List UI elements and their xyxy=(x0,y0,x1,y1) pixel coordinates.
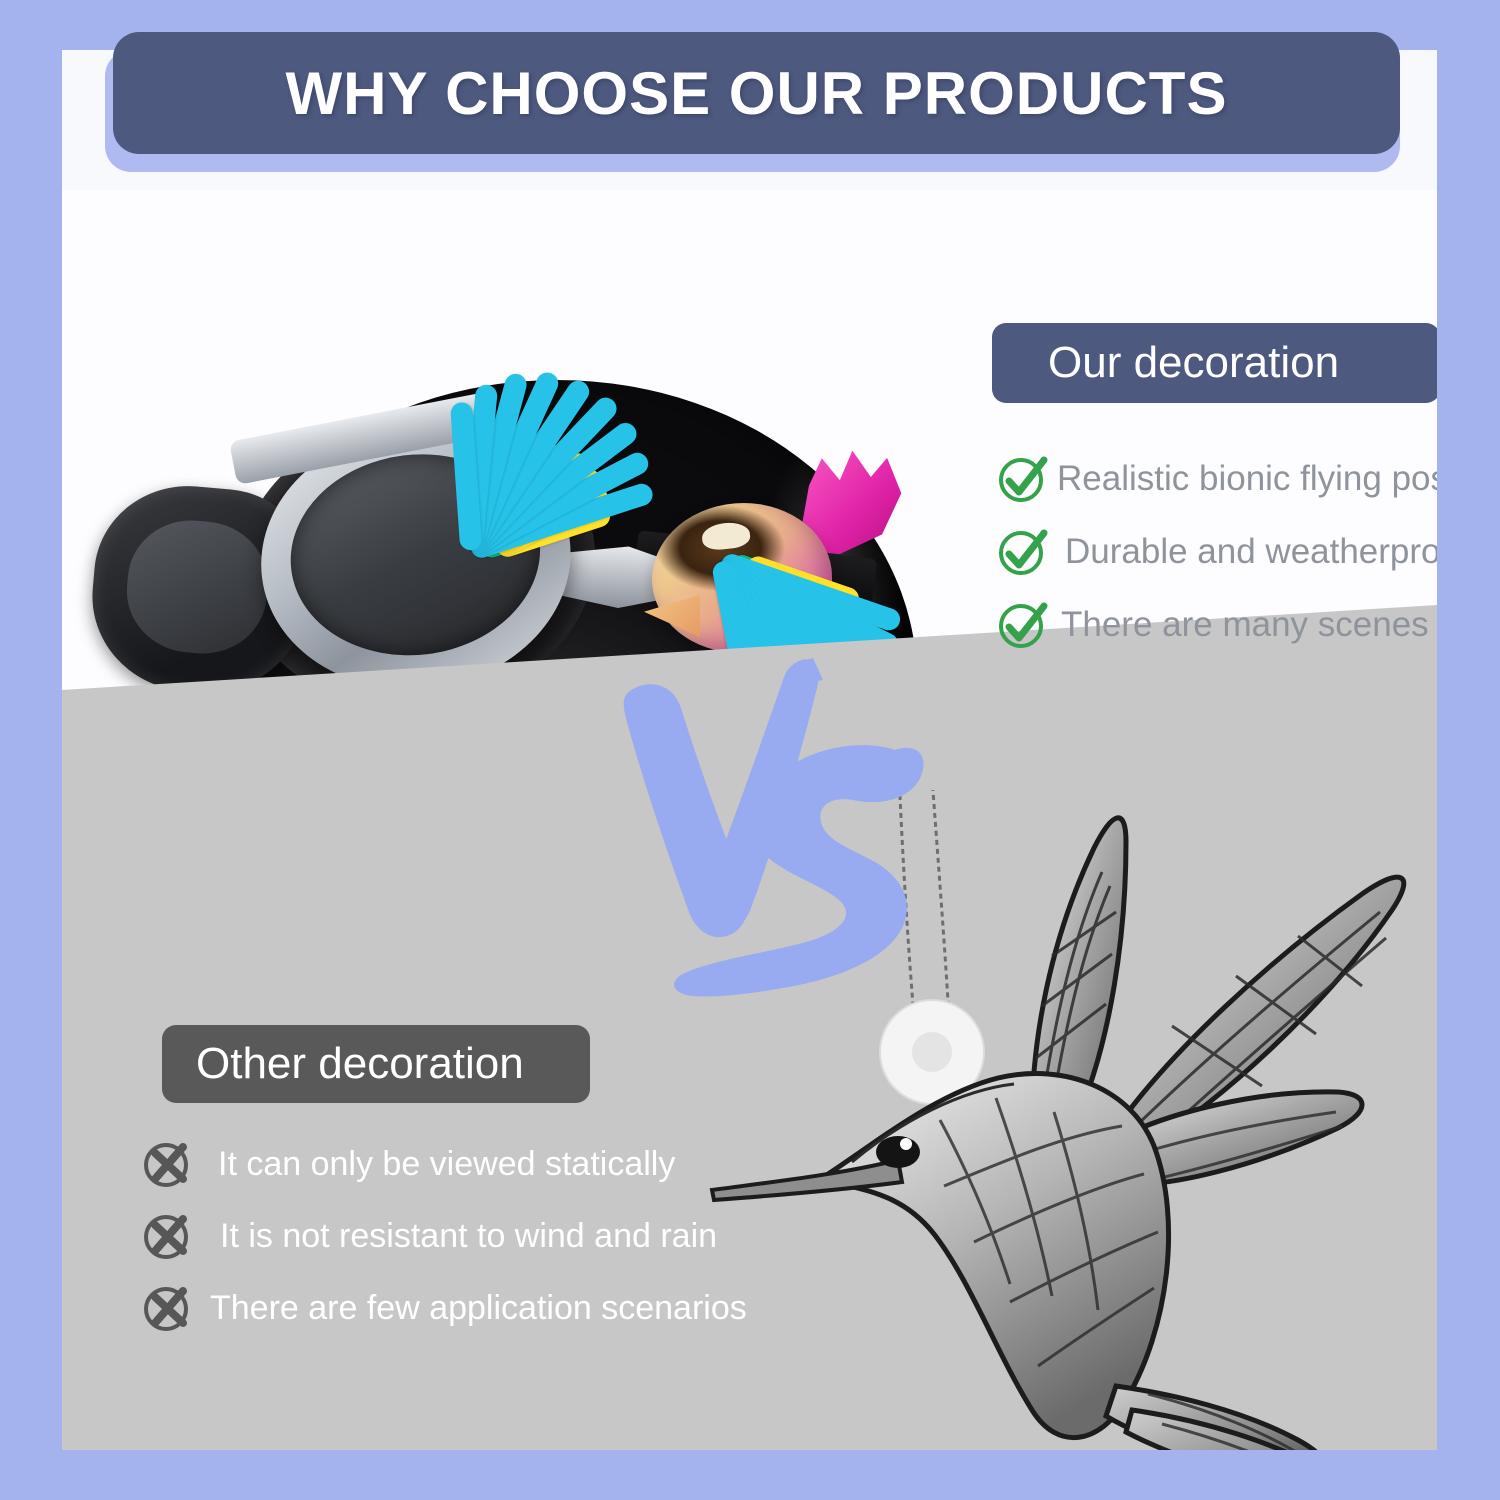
feature-item: Realistic bionic flying posture xyxy=(997,442,1437,515)
feature-item: There are many scenes xyxy=(997,588,1437,661)
hummingbird-eye-glint xyxy=(900,1138,912,1150)
chain-ring-hole xyxy=(912,1032,952,1072)
content-card: Our decoration Other decoration Realisti… xyxy=(62,50,1437,1450)
feature-label: It is not resistant to wind and rain xyxy=(202,1217,717,1256)
page-title: WHY CHOOSE OUR PRODUCTS xyxy=(286,59,1228,128)
check-circle-icon xyxy=(997,454,1051,504)
other-decoration-badge-label: Other decoration xyxy=(196,1039,524,1089)
feature-item: Durable and weatherproof xyxy=(997,515,1437,588)
cross-circle-icon xyxy=(142,1211,196,1261)
check-circle-icon xyxy=(997,600,1051,650)
feature-item: There are few application scenarios xyxy=(142,1272,782,1344)
check-circle-icon xyxy=(997,527,1051,577)
feature-label: It can only be viewed statically xyxy=(202,1145,675,1184)
header-banner: WHY CHOOSE OUR PRODUCTS xyxy=(105,32,1400,172)
other-decoration-feature-list: It can only be viewed statically It is n… xyxy=(142,1128,782,1344)
other-decoration-badge: Other decoration xyxy=(162,1025,590,1103)
our-decoration-badge-label: Our decoration xyxy=(1048,338,1339,388)
cross-circle-icon xyxy=(142,1283,196,1333)
cross-circle-icon xyxy=(142,1139,196,1189)
feature-label: There are few application scenarios xyxy=(202,1289,747,1328)
feature-label: Realistic bionic flying posture xyxy=(1057,459,1437,499)
hummingbird-eye xyxy=(876,1136,920,1168)
hanging-hummingbird-ornament-illustration xyxy=(702,790,1437,1450)
our-decoration-badge: Our decoration xyxy=(992,323,1437,403)
feature-label: There are many scenes xyxy=(1057,605,1429,645)
feature-item: It can only be viewed statically xyxy=(142,1128,782,1200)
feature-label: Durable and weatherproof xyxy=(1057,532,1437,572)
our-decoration-feature-list: Realistic bionic flying posture Durable … xyxy=(997,442,1437,661)
infographic-canvas: Our decoration Other decoration Realisti… xyxy=(0,0,1500,1500)
header-banner-bar: WHY CHOOSE OUR PRODUCTS xyxy=(113,32,1400,154)
feature-item: It is not resistant to wind and rain xyxy=(142,1200,782,1272)
